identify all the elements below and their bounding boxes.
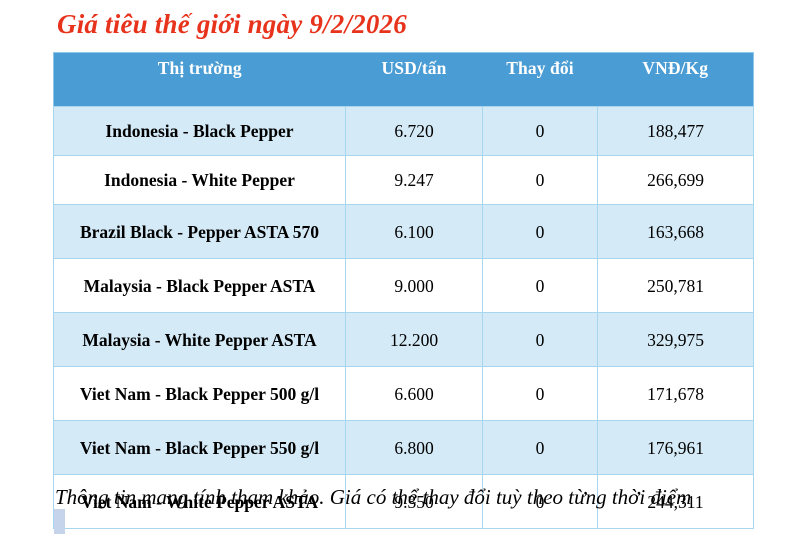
- cell-vnd: 329,975: [598, 313, 754, 367]
- cell-vnd: 171,678: [598, 367, 754, 421]
- cell-usd: 6.720: [346, 107, 483, 156]
- column-header-market: Thị trường: [54, 53, 346, 107]
- table-row: Indonesia - Black Pepper 6.720 0 188,477: [54, 107, 754, 156]
- cell-usd: 6.100: [346, 205, 483, 259]
- bottom-marker-bar: [54, 509, 65, 534]
- cell-vnd: 250,781: [598, 259, 754, 313]
- slide-page: Giá tiêu thế giới ngày 9/2/2026 Thị trườ…: [0, 0, 800, 534]
- cell-vnd: 188,477: [598, 107, 754, 156]
- disclaimer-note: Thông tin mang tính tham khảo. Giá có th…: [55, 484, 691, 510]
- cell-market: Brazil Black - Pepper ASTA 570: [54, 205, 346, 259]
- cell-change: 0: [483, 367, 598, 421]
- cell-usd: 6.600: [346, 367, 483, 421]
- column-header-change: Thay đổi: [483, 53, 598, 107]
- cell-market: Indonesia - White Pepper: [54, 156, 346, 205]
- cell-change: 0: [483, 107, 598, 156]
- cell-market: Malaysia - White Pepper ASTA: [54, 313, 346, 367]
- cell-change: 0: [483, 156, 598, 205]
- table-row: Indonesia - White Pepper 9.247 0 266,699: [54, 156, 754, 205]
- cell-usd: 12.200: [346, 313, 483, 367]
- cell-market: Indonesia - Black Pepper: [54, 107, 346, 156]
- cell-change: 0: [483, 205, 598, 259]
- cell-vnd: 163,668: [598, 205, 754, 259]
- table-header: Thị trường USD/tấn Thay đổi VNĐ/Kg: [54, 53, 754, 107]
- table-row: Viet Nam - Black Pepper 550 g/l 6.800 0 …: [54, 421, 754, 475]
- cell-change: 0: [483, 421, 598, 475]
- table-header-row: Thị trường USD/tấn Thay đổi VNĐ/Kg: [54, 53, 754, 107]
- table-row: Viet Nam - Black Pepper 500 g/l 6.600 0 …: [54, 367, 754, 421]
- cell-market: Viet Nam - Black Pepper 500 g/l: [54, 367, 346, 421]
- cell-change: 0: [483, 259, 598, 313]
- cell-market: Malaysia - Black Pepper ASTA: [54, 259, 346, 313]
- table-row: Malaysia - White Pepper ASTA 12.200 0 32…: [54, 313, 754, 367]
- table-row: Malaysia - Black Pepper ASTA 9.000 0 250…: [54, 259, 754, 313]
- cell-usd: 9.000: [346, 259, 483, 313]
- pepper-price-table: Thị trường USD/tấn Thay đổi VNĐ/Kg Indon…: [53, 52, 754, 529]
- cell-usd: 9.247: [346, 156, 483, 205]
- table-row: Brazil Black - Pepper ASTA 570 6.100 0 1…: [54, 205, 754, 259]
- column-header-vnd: VNĐ/Kg: [598, 53, 754, 107]
- cell-vnd: 176,961: [598, 421, 754, 475]
- page-title: Giá tiêu thế giới ngày 9/2/2026: [57, 7, 407, 41]
- cell-market: Viet Nam - Black Pepper 550 g/l: [54, 421, 346, 475]
- table-body: Indonesia - Black Pepper 6.720 0 188,477…: [54, 107, 754, 529]
- column-header-usd: USD/tấn: [346, 53, 483, 107]
- cell-change: 0: [483, 313, 598, 367]
- cell-vnd: 266,699: [598, 156, 754, 205]
- cell-usd: 6.800: [346, 421, 483, 475]
